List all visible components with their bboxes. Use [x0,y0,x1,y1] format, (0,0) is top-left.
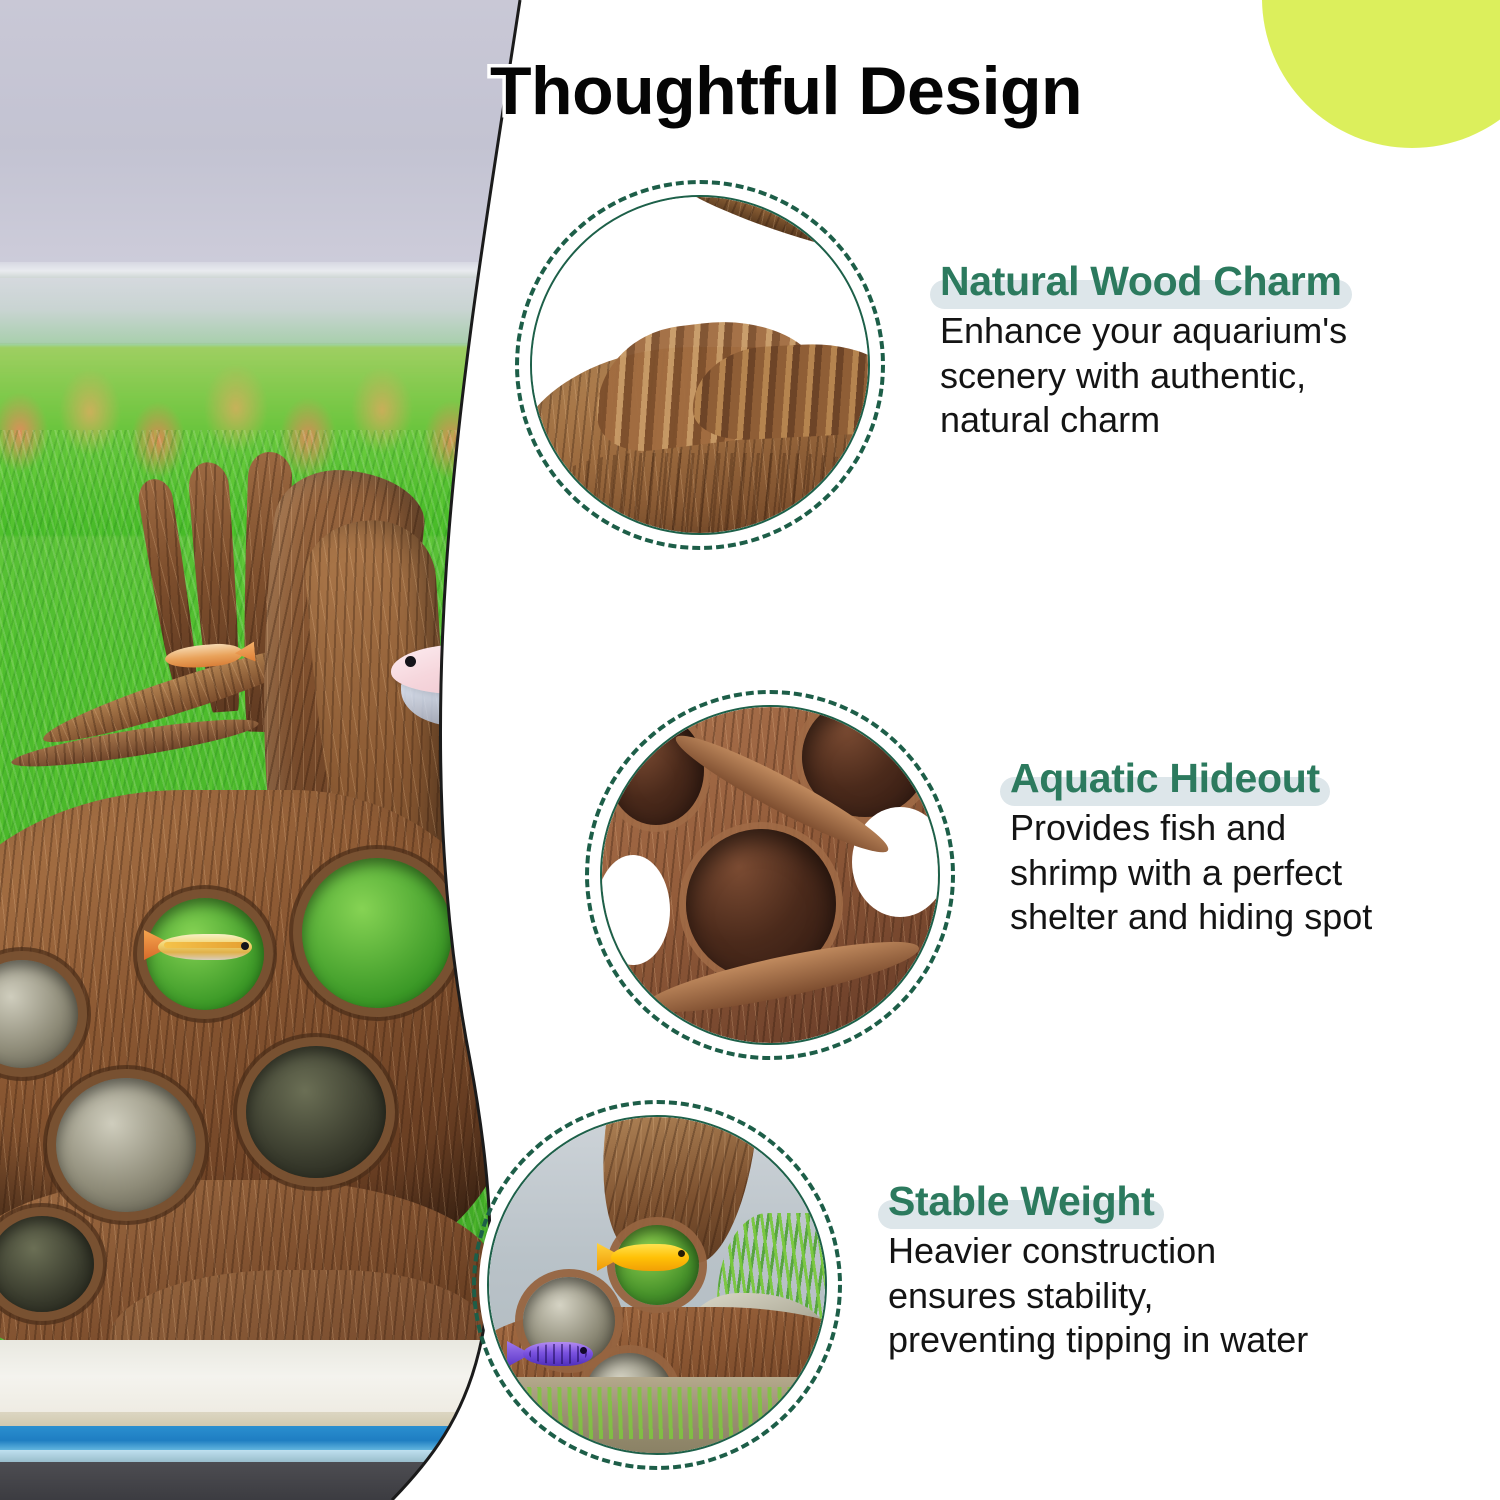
lime-circle-decoration [1262,0,1500,148]
feature-heading: Aquatic Hideout [1000,755,1330,802]
blue-cichlid [513,1339,599,1369]
feature-text-natural-wood-charm: Natural Wood Charm Enhance your aquarium… [940,258,1470,443]
feature-body: Enhance your aquarium's scenery with aut… [940,309,1470,443]
floor-moss [489,1387,825,1439]
feature-image-natural-wood-charm [515,180,885,550]
feature-body: Heavier construction ensures stability, … [888,1229,1448,1363]
ornament-hole [246,1046,386,1178]
feature-heading: Stable Weight [878,1178,1164,1225]
yellow-cichlid [605,1241,697,1273]
feature-text-aquatic-hideout: Aquatic Hideout Provides fish and shrimp… [1010,755,1480,940]
feature-heading: Natural Wood Charm [930,258,1352,305]
feature-image-aquatic-hideout [585,690,955,1060]
solid-ring [487,1115,827,1455]
tank-air-space [0,0,640,265]
feature-text-stable-weight: Stable Weight Heavier construction ensur… [888,1178,1448,1363]
aquascape-photo [489,1117,825,1453]
tank-base [0,1462,640,1500]
wood-grain-photo [532,197,868,533]
danio-fish [150,930,258,962]
ornament-tunnels-photo [602,707,938,1043]
page-title: Thoughtful Design [490,52,1082,130]
driftwood-stick [657,197,868,282]
solid-ring [600,705,940,1045]
betta-fish [365,620,565,770]
wood-grain-lines [532,453,868,533]
feature-image-stable-weight [472,1100,842,1470]
solid-ring [530,195,870,535]
infographic-canvas: Thoughtful Design [0,0,1500,1500]
ornament-hole [56,1078,196,1212]
feature-body: Provides fish and shrimp with a perfect … [1010,806,1480,940]
tunnel-hole [608,715,704,825]
through-opening [852,807,938,917]
ornament-hole [302,858,452,1008]
